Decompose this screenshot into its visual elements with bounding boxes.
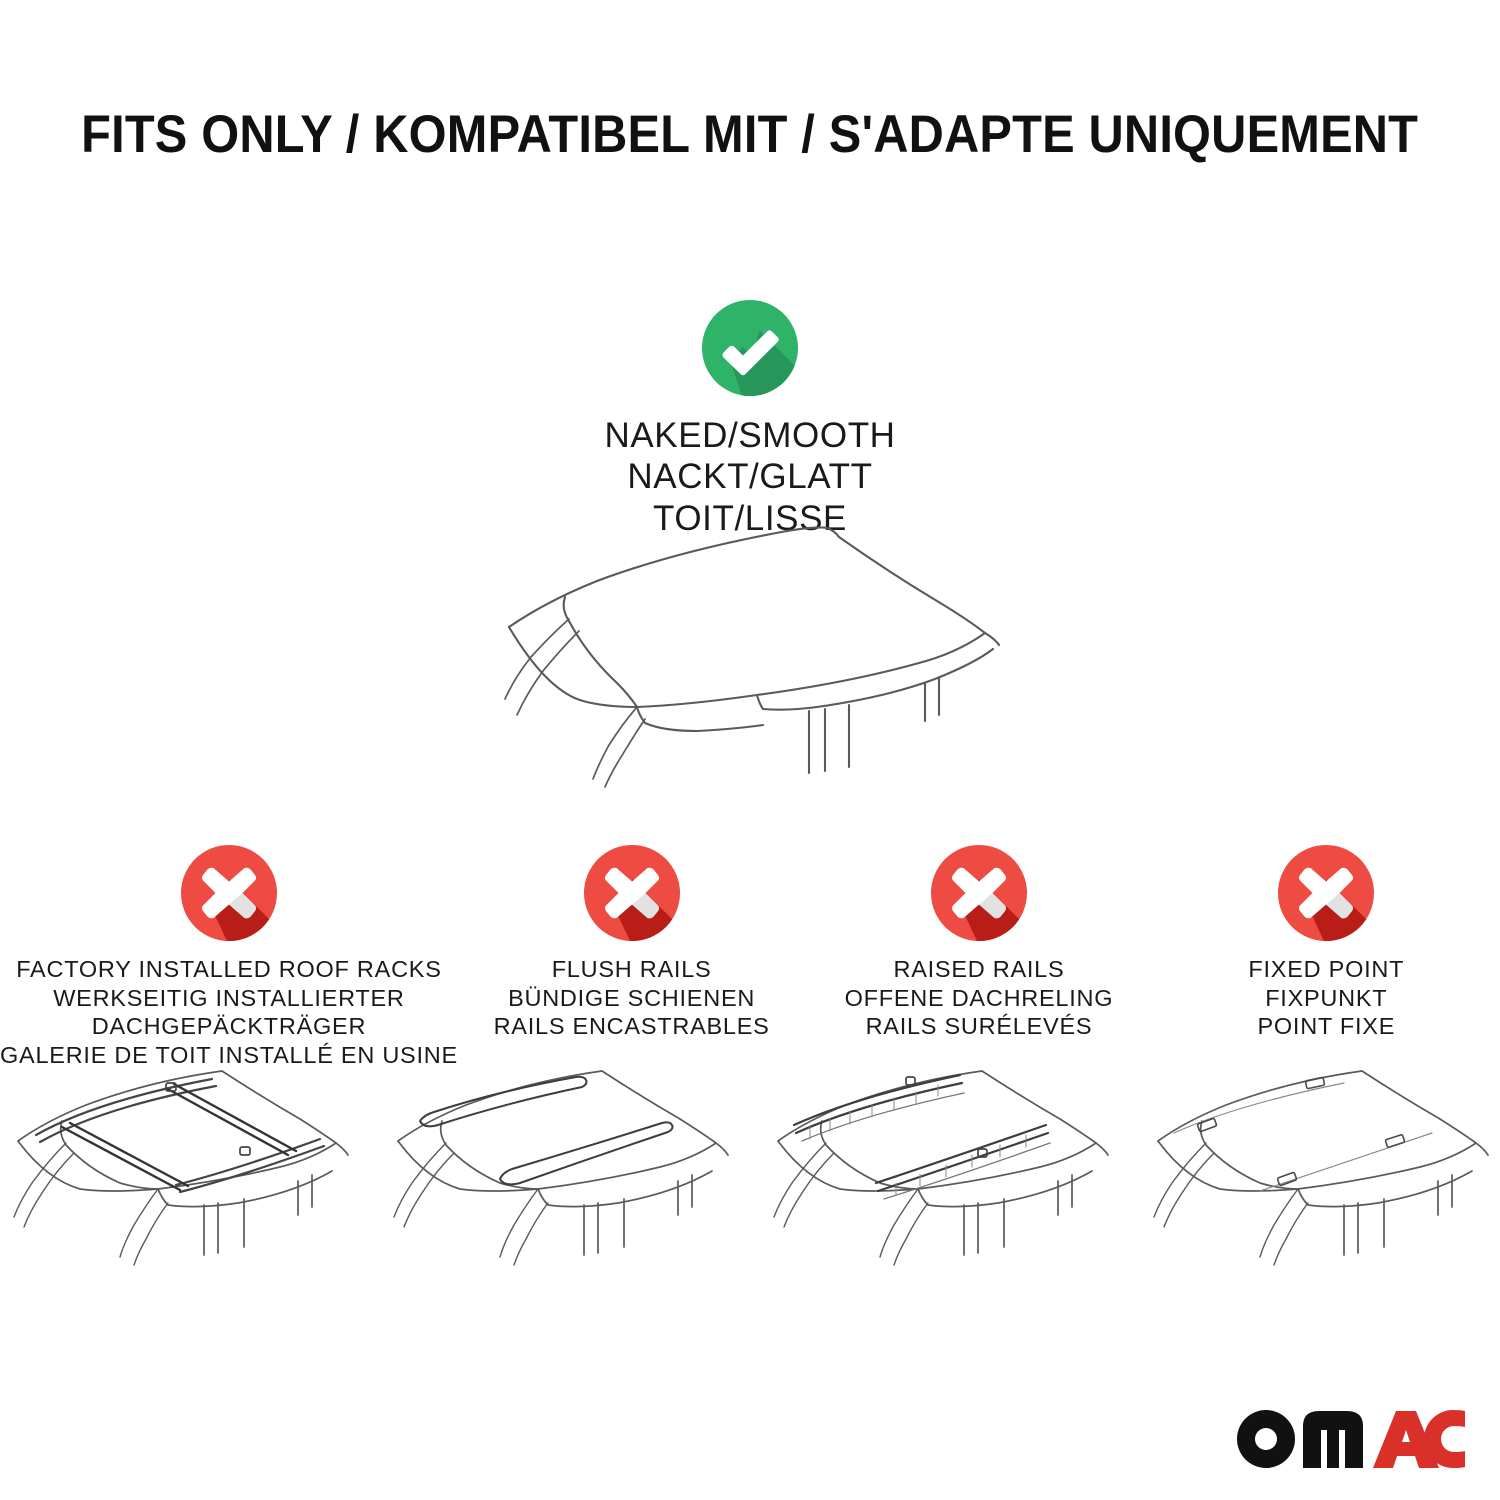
red-cross-circle-icon <box>931 845 1027 941</box>
label-en: FACTORY INSTALLED ROOF RACKS <box>0 955 458 984</box>
page-title: FITS ONLY / KOMPATIBEL MIT / S'ADAPTE UN… <box>0 104 1500 165</box>
roof-cell-factory-rack <box>0 1055 380 1290</box>
incompatible-labels: FACTORY INSTALLED ROOF RACKS WERKSEITIG … <box>0 955 458 1070</box>
cross-mark-glyph <box>931 845 1027 941</box>
incompatible-section: FACTORY INSTALLED ROOF RACKS WERKSEITIG … <box>0 845 1500 1070</box>
factory-roof-rack-illustration <box>0 1055 380 1290</box>
label-de: OFFENE DACHRELING <box>845 984 1114 1013</box>
fixed-point-illustration <box>1140 1055 1500 1290</box>
cross-mark-glyph <box>584 845 680 941</box>
incompatible-item-flush-rails: FLUSH RAILS BÜNDIGE SCHIENEN RAILS ENCAS… <box>458 845 805 1070</box>
roof-illustrations-row <box>0 1055 1500 1290</box>
label-de-line2: DACHGEPÄCKTRÄGER <box>0 1012 458 1041</box>
label-fr: RAILS SURÉLEVÉS <box>845 1012 1114 1041</box>
label-en: FLUSH RAILS <box>494 955 770 984</box>
red-cross-circle-icon <box>181 845 277 941</box>
cross-mark-glyph <box>1278 845 1374 941</box>
incompatible-labels: RAISED RAILS OFFENE DACHRELING RAILS SUR… <box>845 955 1114 1041</box>
label-en: FIXED POINT <box>1248 955 1404 984</box>
raised-rails-illustration <box>760 1055 1140 1290</box>
incompatible-labels: FIXED POINT FIXPUNKT POINT FIXE <box>1248 955 1404 1041</box>
compatible-label-de: NACKT/GLATT <box>0 456 1500 497</box>
omac-logo-mark <box>1233 1406 1465 1472</box>
label-de: BÜNDIGE SCHIENEN <box>494 984 770 1013</box>
label-en: RAISED RAILS <box>845 955 1114 984</box>
cross-mark-glyph <box>181 845 277 941</box>
flush-rails-illustration <box>380 1055 760 1290</box>
compatible-section: NAKED/SMOOTH NACKT/GLATT TOIT/LISSE <box>0 300 1500 539</box>
label-fr: POINT FIXE <box>1248 1012 1404 1041</box>
label-de-line1: WERKSEITIG INSTALLIERTER <box>0 984 458 1013</box>
red-cross-circle-icon <box>1278 845 1374 941</box>
label-de: FIXPUNKT <box>1248 984 1404 1013</box>
green-check-circle-icon <box>702 300 798 396</box>
roof-cell-flush-rails <box>380 1055 760 1290</box>
incompatible-item-factory-installed-roof-racks: FACTORY INSTALLED ROOF RACKS WERKSEITIG … <box>0 845 458 1070</box>
incompatible-item-raised-rails: RAISED RAILS OFFENE DACHRELING RAILS SUR… <box>805 845 1152 1070</box>
naked-smooth-roof-illustration <box>487 515 1027 805</box>
page-title-text: FITS ONLY / KOMPATIBEL MIT / S'ADAPTE UN… <box>81 104 1418 165</box>
red-cross-circle-icon <box>584 845 680 941</box>
incompatible-labels: FLUSH RAILS BÜNDIGE SCHIENEN RAILS ENCAS… <box>494 955 770 1041</box>
roof-cell-fixed-point <box>1140 1055 1500 1290</box>
label-fr: RAILS ENCASTRABLES <box>494 1012 770 1041</box>
incompatible-item-fixed-point: FIXED POINT FIXPUNKT POINT FIXE <box>1153 845 1500 1070</box>
omac-logo <box>1233 1406 1465 1472</box>
check-mark-glyph <box>702 300 798 396</box>
compatible-label-en: NAKED/SMOOTH <box>0 415 1500 456</box>
roof-cell-raised-rails <box>760 1055 1140 1290</box>
